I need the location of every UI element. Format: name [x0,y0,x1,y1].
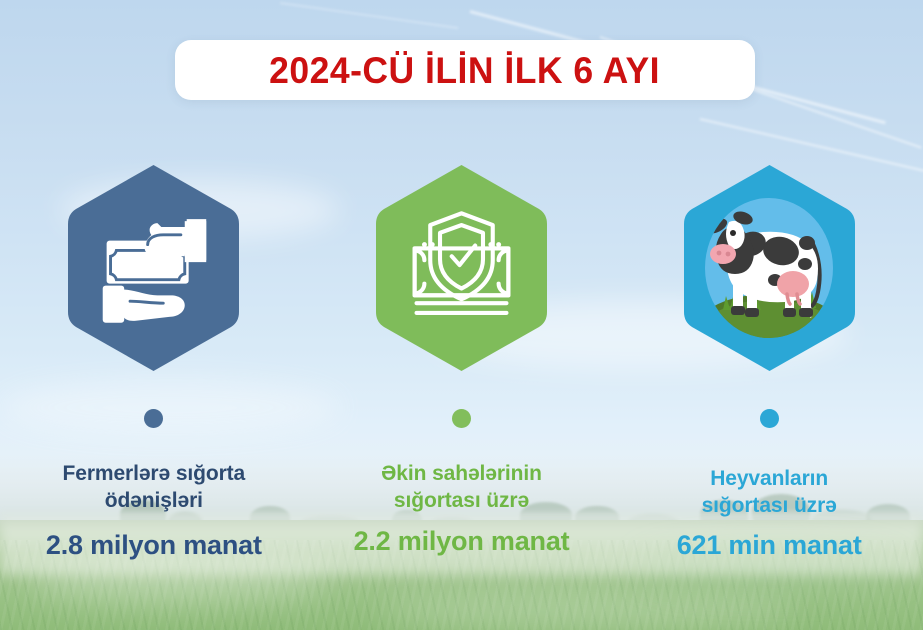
title-card: 2024-CÜ İLİN İLK 6 AYI [175,40,755,100]
connector-dot-crop-insurance [452,409,471,428]
connector-dot-livestock-insurance [760,409,779,428]
hex-badge-crop-insurance [369,162,554,374]
shield-check-banknotes-icon [399,206,524,331]
stat-label-crop-insurance: Əkin sahələrinin sığortası üzrə [381,461,542,515]
hex-badge-livestock-insurance [677,162,862,374]
stats-columns: Fermerlərə sığorta ödənişləri 2.8 milyon… [0,160,923,630]
stat-column-livestock-insurance: Heyvanların sığortası üzrə 621 min manat [615,160,923,630]
stat-column-crop-insurance: Əkin sahələrinin sığortası üzrə 2.2 mily… [308,160,616,630]
stat-column-farmer-payments: Fermerlərə sığorta ödənişləri 2.8 milyon… [0,160,308,630]
page-title: 2024-CÜ İLİN İLK 6 AYI [270,52,661,89]
connector-dot-farmer-payments [144,409,163,428]
stat-value-crop-insurance: 2.2 milyon manat [354,527,570,557]
stat-label-farmer-payments: Fermerlərə sığorta ödənişləri [63,461,246,515]
dairy-cow-icon [689,188,849,348]
stat-value-farmer-payments: 2.8 milyon manat [46,531,262,561]
hex-badge-farmer-payments [61,162,246,374]
stat-label-livestock-insurance: Heyvanların sığortası üzrə [702,466,837,520]
stat-value-livestock-insurance: 621 min manat [677,531,862,561]
hands-exchanging-money-icon [91,206,216,331]
infographic-canvas: 2024-CÜ İLİN İLK 6 AYI [0,0,923,630]
